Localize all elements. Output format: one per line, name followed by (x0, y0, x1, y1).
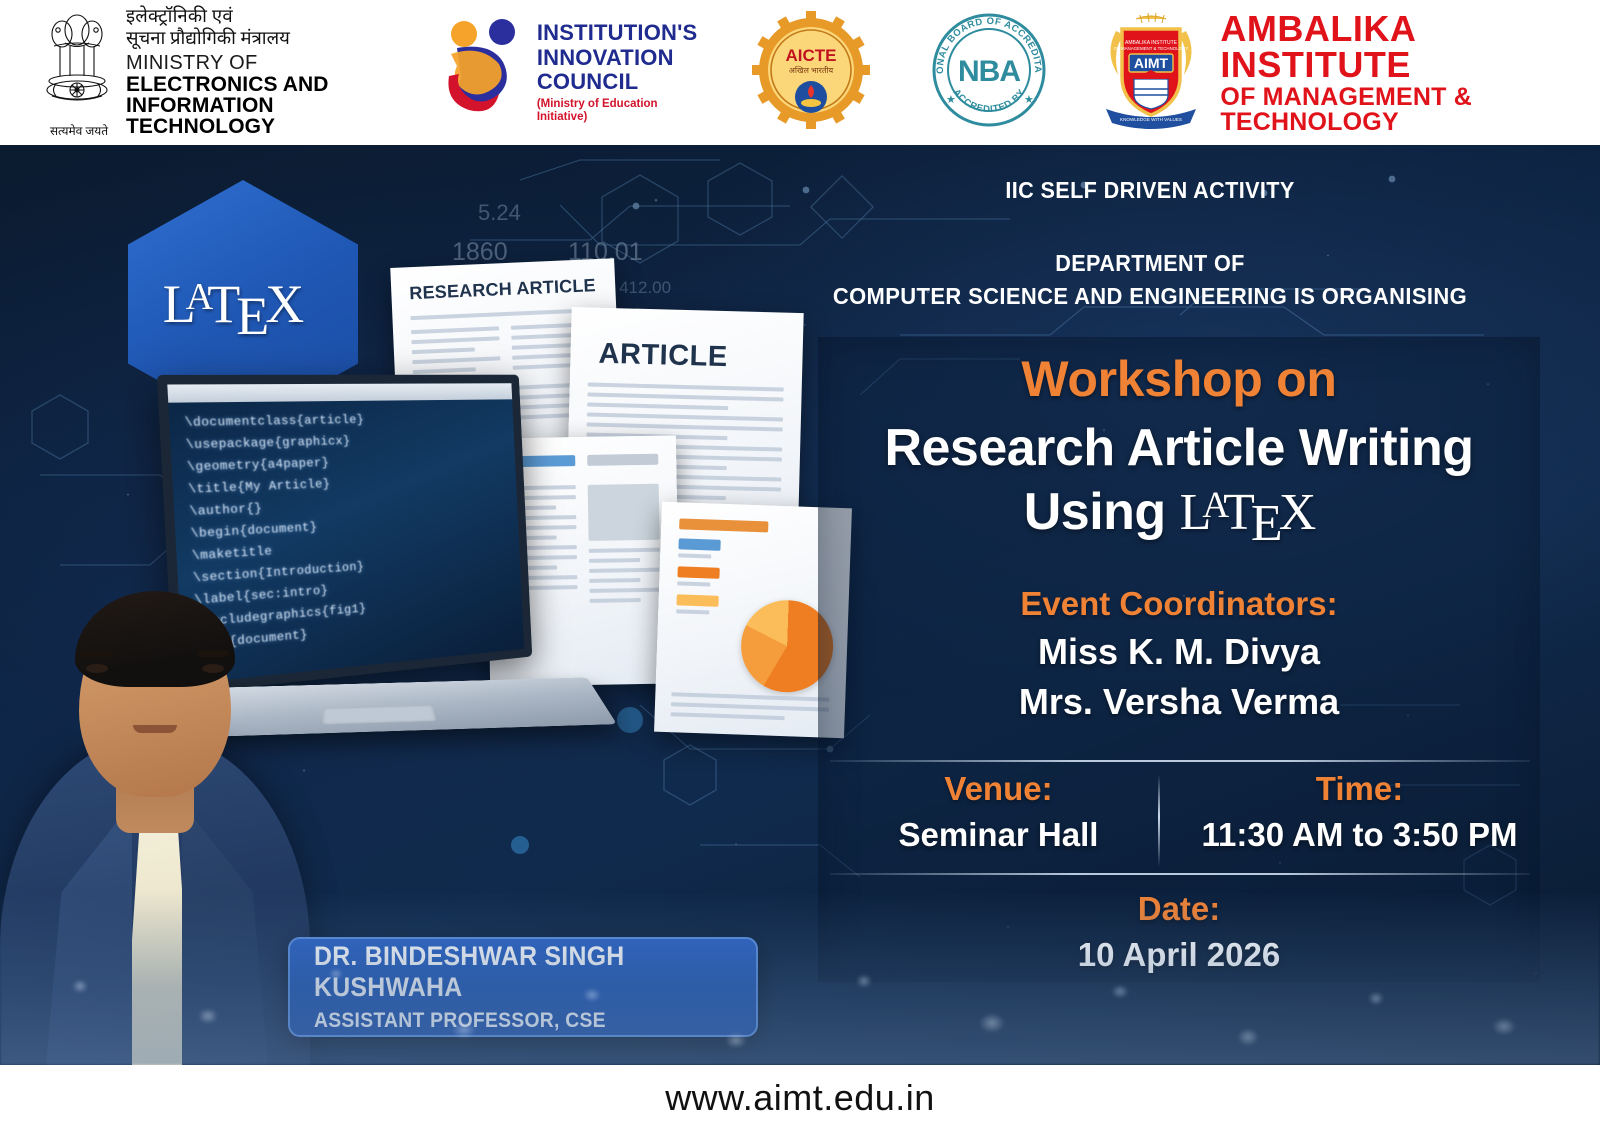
venue-block: Venue: Seminar Hall (818, 770, 1179, 854)
header-logo-bar: सत्यमेव जयते इलेक्ट्रॉनिकी एवं सूचना प्र… (0, 0, 1600, 145)
title-using-latex: Using LATEX (818, 482, 1540, 542)
title-main: Research Article Writing (818, 418, 1540, 478)
aimt-name-line-1: AMBALIKA INSTITUTE (1220, 11, 1600, 83)
header-line-1: IIC SELF DRIVEN ACTIVITY (821, 177, 1479, 204)
header-line-3: COMPUTER SCIENCE AND ENGINEERING IS ORGA… (816, 283, 1485, 310)
svg-text:NBA: NBA (958, 55, 1020, 88)
logo-institutions-innovation-council: INSTITUTION'S INNOVATION COUNCIL (Minist… (437, 0, 698, 145)
footer-bar: www.aimt.edu.in (0, 1065, 1600, 1131)
ministry-english-line-3: INFORMATION TECHNOLOGY (126, 95, 385, 137)
title-prefix: Workshop on (818, 350, 1540, 408)
ashoka-lion-capital-emblem-icon: सत्यमेव जयते (38, 10, 116, 135)
divider-line-top (830, 760, 1530, 762)
coordinator-name: Miss K. M. Divya (818, 631, 1540, 673)
poster-body: 5.24 1860 110.01 802 412.00 LATEX RESEAR… (0, 145, 1600, 1065)
divider-line-middle (830, 873, 1530, 875)
logo-ministry-electronics-it: सत्यमेव जयते इलेक्ट्रॉनिकी एवं सूचना प्र… (0, 0, 385, 145)
svg-text:KNOWLEDGE WITH VALUES: KNOWLEDGE WITH VALUES (1120, 117, 1182, 122)
svg-text:★: ★ (946, 94, 956, 106)
time-value: 11:30 AM to 3:50 PM (1179, 816, 1540, 854)
code-line: \usepackage{graphicx} (186, 431, 503, 453)
vertical-divider (1158, 775, 1160, 867)
aicte-gear-seal-icon: AICTE अखिल भारतीय (752, 11, 870, 134)
workshop-title-block: Workshop on Research Article Writing Usi… (818, 350, 1540, 542)
laptop-trackpad (322, 705, 436, 725)
coordinators-label: Event Coordinators: (818, 585, 1540, 623)
iic-subtitle: (Ministry of Education Initiative) (537, 98, 698, 124)
aimt-shield-crest-icon: AMBALIKA INSTITUTE OF MANAGEMENT & TECHN… (1096, 9, 1206, 136)
article-title: ARTICLE (598, 338, 785, 376)
ministry-hindi-line-1: इलेक्ट्रॉनिकी एवं (126, 8, 385, 27)
iic-line-1: INSTITUTION'S (537, 21, 698, 46)
coordinators-block: Event Coordinators: Miss K. M. Divya Mrs… (818, 585, 1540, 723)
svg-text:अखिल भारतीय: अखिल भारतीय (789, 65, 834, 75)
svg-text:AICTE: AICTE (786, 46, 837, 65)
ministry-english-line-2: ELECTRONICS AND (126, 74, 385, 95)
coordinator-name: Mrs. Versha Verma (818, 681, 1540, 723)
poster-header-text: IIC SELF DRIVEN ACTIVITY DEPARTMENT OF C… (800, 177, 1500, 310)
logo-aimt: AMBALIKA INSTITUTE OF MANAGEMENT & TECHN… (1096, 0, 1600, 145)
iic-human-figures-icon (437, 18, 529, 127)
iic-line-3: COUNCIL (537, 70, 698, 95)
bokeh-glitter-strip (0, 890, 1600, 1065)
svg-text:AIMT: AIMT (1134, 55, 1169, 71)
website-url: www.aimt.edu.in (665, 1077, 935, 1119)
venue-label: Venue: (818, 770, 1179, 808)
svg-text:★: ★ (1024, 94, 1034, 106)
iic-line-2: INNOVATION (537, 46, 698, 71)
venue-time-row: Venue: Seminar Hall Time: 11:30 AM to 3:… (818, 770, 1540, 854)
research-article-title: RESEARCH ARTICLE (409, 275, 598, 304)
aimt-name-line-2: OF MANAGEMENT & TECHNOLOGY (1220, 85, 1600, 135)
latex-wordmark: LATEX (163, 273, 323, 335)
time-label: Time: (1179, 770, 1540, 808)
time-block: Time: 11:30 AM to 3:50 PM (1179, 770, 1540, 854)
ministry-hindi-line-2: सूचना प्रौद्योगिकी मंत्रालय (126, 30, 385, 49)
svg-text:5.24: 5.24 (478, 200, 521, 225)
venue-value: Seminar Hall (818, 816, 1179, 854)
code-line: \documentclass{article} (184, 411, 501, 430)
title-using-word: Using (1024, 483, 1166, 541)
header-line-2: DEPARTMENT OF (821, 250, 1479, 277)
nba-circular-seal-icon: NATIONAL BOARD OF ACCREDITATION ACCREDIT… (930, 11, 1048, 134)
svg-text:OF MANAGEMENT & TECHNOLOGY: OF MANAGEMENT & TECHNOLOGY (1114, 46, 1189, 51)
logo-aicte: AICTE अखिल भारतीय (752, 0, 870, 145)
ministry-english-line-1: MINISTRY OF (126, 53, 385, 73)
ministry-motto: सत्यमेव जयते (40, 122, 118, 139)
logo-nba: NATIONAL BOARD OF ACCREDITATION ACCREDIT… (930, 0, 1048, 145)
latex-wordmark: LATEX (1180, 484, 1335, 541)
